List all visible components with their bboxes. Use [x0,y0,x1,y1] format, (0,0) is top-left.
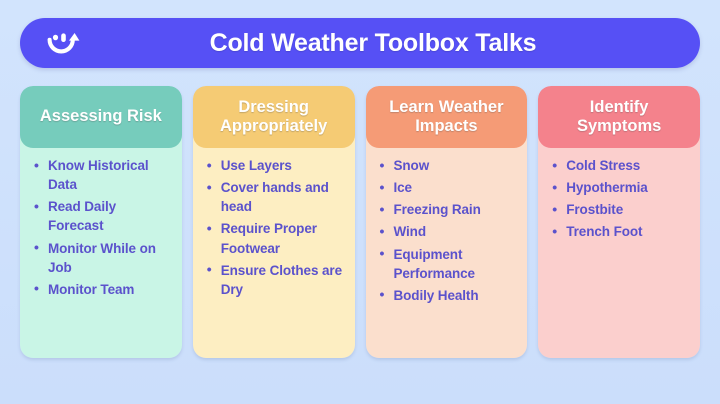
list-item: Require Proper Footwear [207,219,347,257]
list-item: Cover hands and head [207,178,347,216]
card-assessing-risk[interactable]: Assessing Risk Know Historical Data Read… [20,86,182,358]
infographic-root: Cold Weather Toolbox Talks Assessing Ris… [0,0,720,404]
card-title-identify-symptoms: Identify Symptoms [538,86,700,148]
list-item: Equipment Performance [380,245,520,283]
list-item: Wind [380,222,520,241]
card-title-dressing-appropriately: Dressing Appropriately [193,86,355,148]
bullet-list-identify-symptoms: Cold Stress Hypothermia Frostbite Trench… [552,156,692,242]
list-item: Freezing Rain [380,200,520,219]
bullet-list-learn-weather-impacts: Snow Ice Freezing Rain Wind Equipment Pe… [380,156,520,305]
list-item: Frostbite [552,200,692,219]
header-banner: Cold Weather Toolbox Talks [20,18,700,68]
list-item: Ice [380,178,520,197]
list-item: Snow [380,156,520,175]
card-row: Assessing Risk Know Historical Data Read… [20,86,700,358]
bullet-list-dressing-appropriately: Use Layers Cover hands and head Require … [207,156,347,299]
list-item: Know Historical Data [34,156,174,194]
list-item: Monitor Team [34,280,174,299]
card-learn-weather-impacts[interactable]: Learn Weather Impacts Snow Ice Freezing … [366,86,528,358]
card-body-assessing-risk: Know Historical Data Read Daily Forecast… [20,138,182,358]
list-item: Monitor While on Job [34,239,174,277]
list-item: Cold Stress [552,156,692,175]
card-identify-symptoms[interactable]: Identify Symptoms Cold Stress Hypothermi… [538,86,700,358]
page-title: Cold Weather Toolbox Talks [98,29,674,58]
card-title-assessing-risk: Assessing Risk [20,86,182,148]
list-item: Ensure Clothes are Dry [207,261,347,299]
smiley-arrow-logo-icon [46,30,80,56]
list-item: Read Daily Forecast [34,197,174,235]
list-item: Hypothermia [552,178,692,197]
card-dressing-appropriately[interactable]: Dressing Appropriately Use Layers Cover … [193,86,355,358]
card-body-learn-weather-impacts: Snow Ice Freezing Rain Wind Equipment Pe… [366,138,528,358]
card-body-dressing-appropriately: Use Layers Cover hands and head Require … [193,138,355,358]
card-title-learn-weather-impacts: Learn Weather Impacts [366,86,528,148]
list-item: Bodily Health [380,286,520,305]
bullet-list-assessing-risk: Know Historical Data Read Daily Forecast… [34,156,174,299]
card-body-identify-symptoms: Cold Stress Hypothermia Frostbite Trench… [538,138,700,358]
list-item: Use Layers [207,156,347,175]
list-item: Trench Foot [552,222,692,241]
